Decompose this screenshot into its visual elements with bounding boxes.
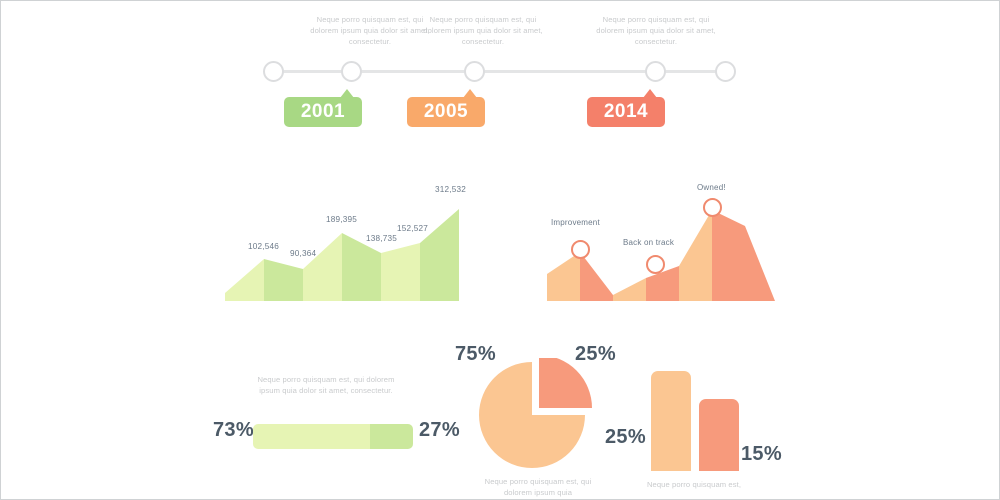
pie-chart: 75% 25% Neque porro quisquam est, qui do… <box>451 336 621 500</box>
timeline-badge-2014[interactable]: 2014 <box>587 97 665 127</box>
column-chart-bar-2[interactable] <box>699 399 739 471</box>
orange-annotation-back-on-track: Back on track <box>623 238 674 247</box>
pie-chart-svg <box>475 358 605 478</box>
orange-marker-back-on-track[interactable] <box>646 255 665 274</box>
progress-bar-note: Neque porro quisquam est, qui dolorem ip… <box>253 374 399 396</box>
pie-chart-note: Neque porro quisquam est, qui dolorem ip… <box>473 476 603 498</box>
green-area-chart: 102,546 90,364 189,395 138,735 152,527 3… <box>225 201 461 301</box>
badge-tail-icon <box>643 89 657 98</box>
timeline-node-3[interactable] <box>464 61 485 82</box>
progress-bar-label-left: 73% <box>213 419 254 442</box>
green-area-value-1: 102,546 <box>248 242 279 251</box>
progress-bar-fill-left <box>253 424 370 449</box>
green-area-value-2: 90,364 <box>290 249 316 258</box>
badge-tail-icon <box>340 89 354 98</box>
timeline-node-4[interactable] <box>645 61 666 82</box>
badge-tail-icon <box>463 89 477 98</box>
orange-marker-owned[interactable] <box>703 198 722 217</box>
timeline-badge-2001[interactable]: 2001 <box>284 97 362 127</box>
green-area-value-3: 189,395 <box>326 215 357 224</box>
green-area-value-5: 152,527 <box>397 224 428 233</box>
green-area-value-4: 138,735 <box>366 234 397 243</box>
timeline-node-2[interactable] <box>341 61 362 82</box>
progress-bar-track[interactable] <box>253 424 413 449</box>
column-chart: 25% 15% Neque porro quisquam est, <box>597 371 797 500</box>
orange-annotation-improvement: Improvement <box>551 218 600 227</box>
column-chart-plot <box>651 371 743 471</box>
timeline-badge-2014-label: 2014 <box>587 97 665 127</box>
timeline-node-5[interactable] <box>715 61 736 82</box>
column-chart-bar-1[interactable] <box>651 371 691 471</box>
orange-area-chart: Improvement Back on track Owned! <box>547 196 775 301</box>
timeline-badge-2005-label: 2005 <box>407 97 485 127</box>
column-chart-label-2: 15% <box>741 443 782 466</box>
infographic-canvas: Neque porro quisquam est, qui dolorem ip… <box>0 0 1000 500</box>
timeline-section: Neque porro quisquam est, qui dolorem ip… <box>1 1 1000 141</box>
timeline-note-2: Neque porro quisquam est, qui dolorem ip… <box>417 14 549 47</box>
column-chart-note: Neque porro quisquam est, <box>619 479 769 490</box>
timeline-badge-2005[interactable]: 2005 <box>407 97 485 127</box>
pie-slice-minor[interactable] <box>539 358 592 408</box>
orange-annotation-owned: Owned! <box>697 183 726 192</box>
timeline-node-1[interactable] <box>263 61 284 82</box>
green-area-value-6: 312,532 <box>435 185 466 194</box>
column-chart-label-1: 25% <box>605 426 646 449</box>
timeline-note-3: Neque porro quisquam est, qui dolorem ip… <box>590 14 722 47</box>
progress-bar-fill-right <box>370 424 413 449</box>
timeline-badge-2001-label: 2001 <box>284 97 362 127</box>
orange-marker-improvement[interactable] <box>571 240 590 259</box>
